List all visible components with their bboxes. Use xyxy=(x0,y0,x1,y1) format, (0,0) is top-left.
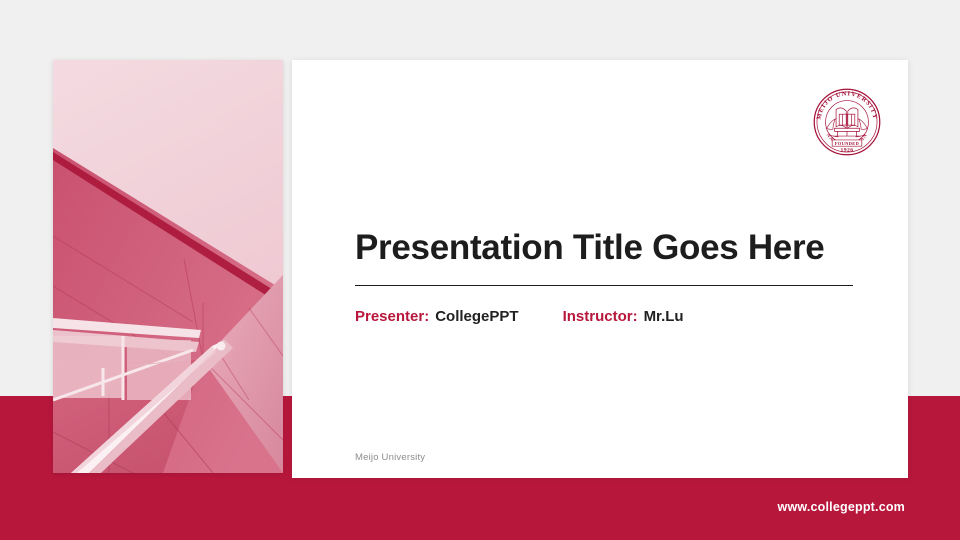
instructor-label: Instructor: xyxy=(563,308,638,325)
presenter-value: CollegePPT xyxy=(435,308,518,325)
page-title: Presentation Title Goes Here xyxy=(355,228,855,267)
content-card: MEIJO UNIVERSITY NAGOYA JAPAN xyxy=(292,60,908,478)
title-block: Presentation Title Goes Here xyxy=(355,228,855,286)
svg-text:FOUNDED: FOUNDED xyxy=(835,141,859,146)
svg-text:1926: 1926 xyxy=(840,147,853,153)
credit-presenter: Presenter: CollegePPT xyxy=(355,308,519,325)
instructor-value: Mr.Lu xyxy=(644,308,684,325)
credit-instructor: Instructor: Mr.Lu xyxy=(563,308,684,325)
presenter-label: Presenter: xyxy=(355,308,429,325)
site-url: www.collegeppt.com xyxy=(778,500,905,514)
card-footer-text: Meijo University xyxy=(355,452,425,463)
slide-canvas: www.collegeppt.com MEIJO UNIVERSITY NAGO… xyxy=(0,0,960,540)
credits-row: Presenter: CollegePPT Instructor: Mr.Lu xyxy=(355,308,684,325)
title-divider xyxy=(355,285,853,286)
architecture-photo xyxy=(53,60,283,473)
meijo-university-seal-icon: MEIJO UNIVERSITY NAGOYA JAPAN xyxy=(808,83,886,161)
